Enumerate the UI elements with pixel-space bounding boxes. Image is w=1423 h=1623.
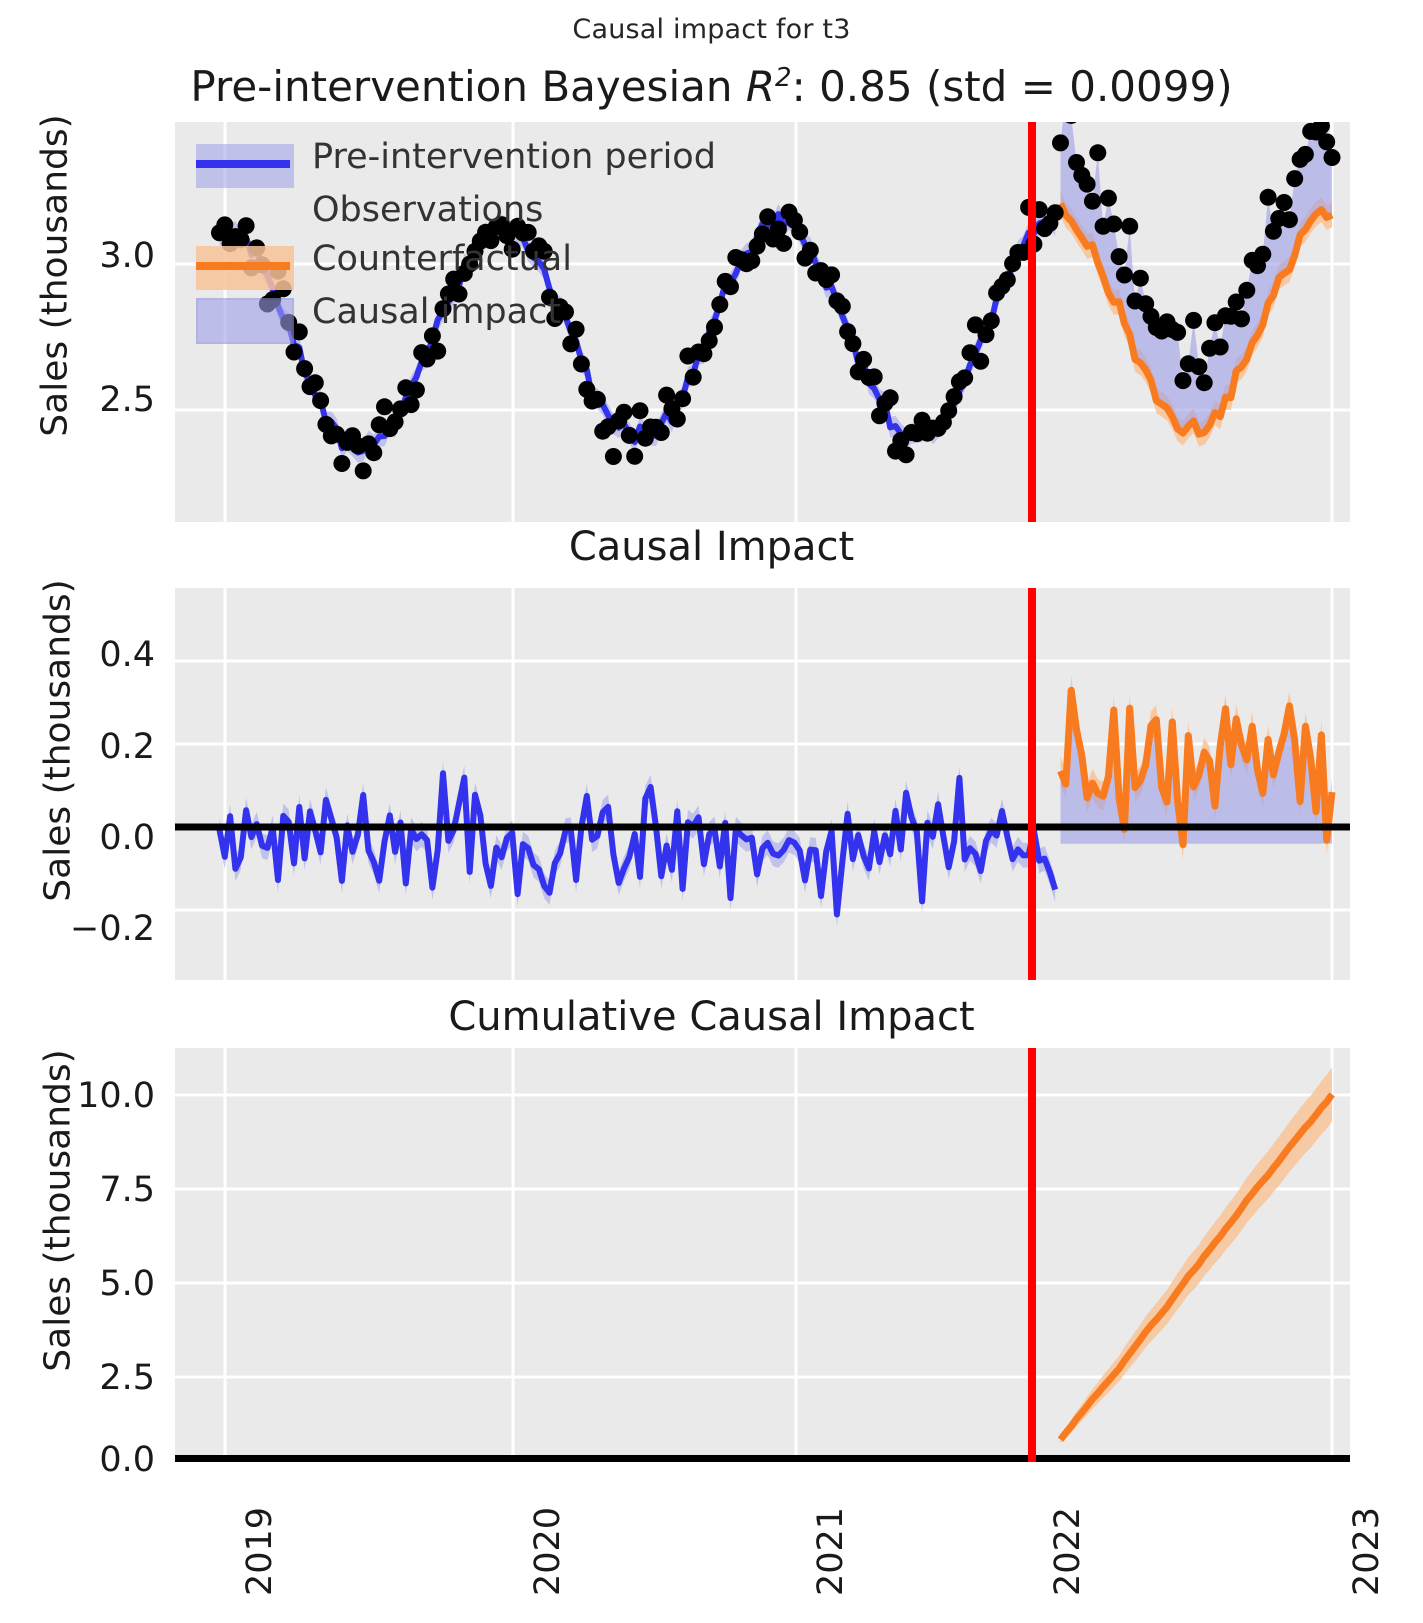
observation-point	[632, 402, 649, 419]
observation-point	[1084, 193, 1101, 210]
observation-point	[1169, 324, 1186, 341]
observation-point	[1254, 246, 1271, 263]
xtick-2022: 2022	[1048, 1507, 1088, 1596]
title-r-symbol: R	[746, 62, 775, 111]
ytick-cumulative-3: 2.5	[5, 1358, 155, 1398]
legend-swatch-counterfactual-line	[196, 262, 290, 270]
ytick-cumulative-4: 0.0	[5, 1440, 155, 1480]
xtick-2019: 2019	[240, 1507, 280, 1596]
observation-point	[823, 266, 840, 283]
panel-title-cumulative-causal-impact: Cumulative Causal Impact	[0, 994, 1423, 1040]
observation-point	[743, 252, 760, 269]
legend-label-counterfactual: Counterfactual	[312, 239, 572, 279]
observation-point	[307, 374, 324, 391]
legend-label-pre-intervention: Pre-intervention period	[312, 137, 716, 177]
observation-point	[621, 427, 638, 444]
observation-point	[573, 356, 590, 373]
observation-point	[653, 424, 670, 441]
ytick-impact-3: −0.2	[8, 909, 155, 949]
intervention-line-observed	[1028, 122, 1036, 522]
observation-point	[616, 404, 633, 421]
observation-point	[403, 396, 420, 413]
observation-point	[898, 446, 915, 463]
xtick-2023: 2023	[1347, 1507, 1387, 1596]
legend-label-observations: Observations	[312, 190, 543, 230]
observation-point	[333, 455, 350, 472]
chart-panel-cumulative	[175, 1048, 1350, 1462]
observation-point	[722, 278, 739, 295]
observation-point	[1233, 310, 1250, 327]
legend: Pre-intervention period Observations Cou…	[196, 140, 716, 340]
cumulative-line	[1061, 1094, 1333, 1439]
intervention-line-impact	[1028, 588, 1036, 980]
ytick-cumulative-2: 5.0	[5, 1264, 155, 1304]
observation-point	[355, 462, 372, 479]
observation-point	[1047, 204, 1064, 221]
ytick-cumulative-1: 7.5	[5, 1170, 155, 1210]
legend-label-causal-impact: Causal impact	[312, 292, 561, 332]
observation-point	[408, 382, 425, 399]
observation-point	[1100, 190, 1117, 207]
xtick-2021: 2021	[811, 1507, 851, 1596]
observation-point	[1052, 134, 1069, 151]
series-causal-impact	[220, 676, 1333, 927]
observation-point	[791, 223, 808, 240]
observation-point	[1121, 218, 1138, 235]
ytick-impact-0: 0.4	[25, 635, 155, 675]
observation-point	[983, 312, 1000, 329]
series-cumulative	[1061, 1067, 1333, 1443]
ytick-cumulative-0: 10.0	[5, 1076, 155, 1116]
observation-point	[844, 335, 861, 352]
observation-point	[775, 235, 792, 252]
observation-point	[429, 343, 446, 360]
ytick-impact-2: 0.0	[25, 818, 155, 858]
observation-point	[1238, 282, 1255, 299]
observation-point	[972, 353, 989, 370]
observation-point	[674, 390, 691, 407]
observation-point	[1276, 194, 1293, 211]
observation-point	[1196, 374, 1213, 391]
observation-point	[685, 369, 702, 386]
observation-point	[1089, 144, 1106, 161]
observation-point	[866, 368, 883, 385]
y-axis-label-cumulative: Sales (thousands)	[38, 1011, 79, 1411]
observation-point	[669, 411, 686, 428]
observation-point	[312, 392, 329, 409]
chart-panel-causal-impact	[175, 588, 1350, 980]
figure-suptitle: Causal impact for t3	[0, 14, 1423, 45]
observation-point	[855, 351, 872, 368]
observation-point	[1260, 189, 1277, 206]
observation-point	[956, 369, 973, 386]
observation-point	[946, 388, 963, 405]
observation-point	[1111, 248, 1128, 265]
observation-point	[589, 391, 606, 408]
gridlines-cumulative	[175, 1048, 1350, 1462]
observation-point	[1079, 176, 1096, 193]
xtick-2020: 2020	[528, 1507, 568, 1596]
observation-point	[1116, 267, 1133, 284]
observation-point	[296, 360, 313, 377]
intervention-line-cumulative	[1028, 1048, 1036, 1462]
observation-point	[1281, 211, 1298, 228]
observation-point	[626, 448, 643, 465]
observation-point	[1190, 358, 1207, 375]
observation-point	[834, 298, 851, 315]
observation-point	[1324, 149, 1341, 166]
observation-point	[1105, 216, 1122, 233]
ytick-observed-0: 3.0	[25, 236, 155, 276]
observation-point	[365, 444, 382, 461]
legend-swatch-causal-impact	[196, 298, 294, 344]
observation-point	[605, 448, 622, 465]
ytick-impact-1: 0.2	[25, 727, 155, 767]
title-exponent: 2	[775, 63, 792, 93]
title-suffix: : 0.85 (std = 0.0099)	[792, 62, 1233, 111]
observation-point	[1318, 133, 1335, 150]
observation-point	[376, 398, 393, 415]
observation-point	[1132, 270, 1149, 287]
observation-point	[999, 271, 1016, 288]
observation-point	[802, 242, 819, 259]
page-title: Pre-intervention Bayesian R2: 0.85 (std …	[0, 62, 1423, 111]
observation-point	[1212, 339, 1229, 356]
title-prefix: Pre-intervention Bayesian	[190, 62, 745, 111]
observation-point	[1286, 170, 1303, 187]
observation-point	[1297, 146, 1314, 163]
observation-point	[1185, 312, 1202, 329]
observation-point	[1175, 372, 1192, 389]
impact-pre-line	[220, 773, 1056, 914]
legend-swatch-pre-line	[196, 160, 290, 168]
observation-point	[882, 389, 899, 406]
observation-point	[286, 344, 303, 361]
panel-title-causal-impact: Causal Impact	[0, 524, 1423, 570]
ytick-observed-1: 2.5	[25, 380, 155, 420]
